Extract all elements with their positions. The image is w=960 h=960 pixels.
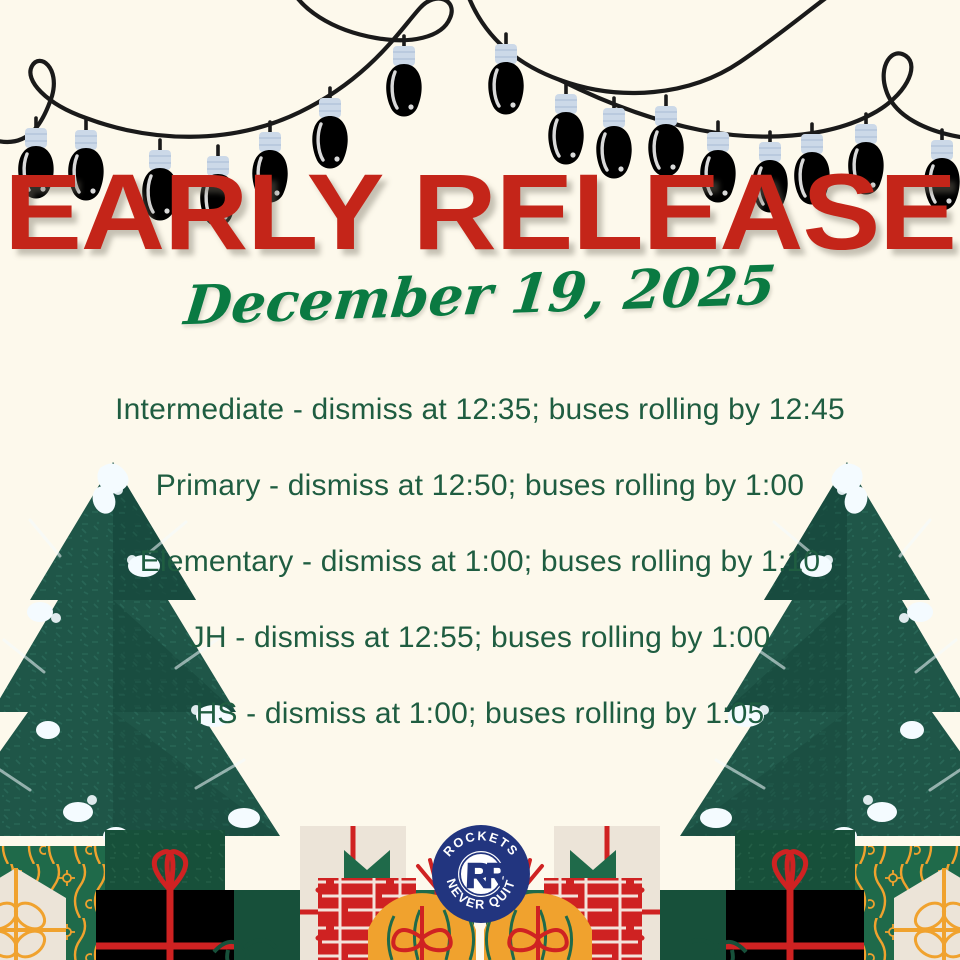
- gift-black-ribbon-left: [96, 852, 244, 960]
- light-wire: [0, 0, 960, 142]
- schedule-line-elementary: Elementary - dismiss at 1:00; buses roll…: [0, 547, 960, 577]
- gift-group-left: [0, 826, 476, 960]
- schedule-line-jh: JH - dismiss at 12:55; buses rolling by …: [0, 623, 960, 653]
- gift-cream-star-left: [300, 826, 406, 960]
- gift-green-floral-left: [0, 846, 105, 960]
- gift-green-textured-left: [105, 830, 225, 960]
- schedule-line-intermediate: Intermediate - dismiss at 12:35; buses r…: [0, 395, 960, 425]
- rockets-never-quit-logo: ROCKETS NEVER QUIT: [430, 823, 532, 925]
- gift-green-swirl-left: [214, 890, 326, 960]
- headline-block: EARLY RELEASE December 19, 2025: [0, 160, 960, 322]
- page-title: EARLY RELEASE: [0, 160, 960, 264]
- schedule-line-primary: Primary - dismiss at 12:50; buses rollin…: [0, 471, 960, 501]
- poster-canvas: #lights-layer use .glass { fill: var(--c…: [0, 0, 960, 960]
- gift-cream-flower-left: [0, 868, 66, 960]
- dismissal-schedule-list: Intermediate - dismiss at 12:35; buses r…: [0, 395, 960, 775]
- gift-group-right: [484, 826, 960, 960]
- schedule-line-hs: HS - dismiss at 1:00; buses rolling by 1…: [0, 699, 960, 729]
- gift-red-woven-left: [318, 850, 416, 960]
